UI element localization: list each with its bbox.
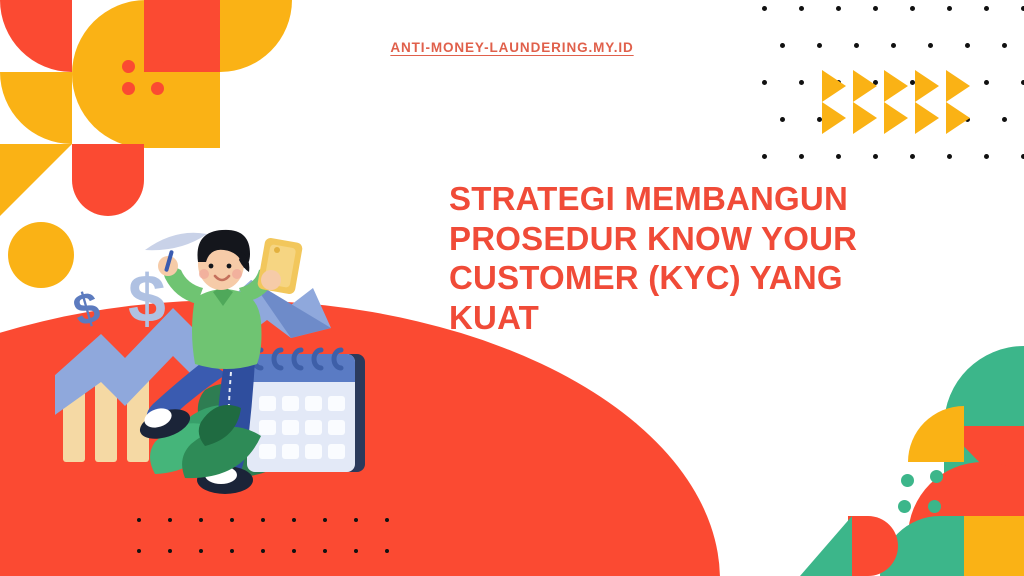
cover-canvas: ANTI-MONEY-LAUNDERING.MY.ID STRATEGI MEM…: [0, 0, 1024, 576]
grid-dot-icon: [199, 549, 203, 553]
yellow-square-icon: [964, 516, 1024, 576]
grid-dot-icon: [799, 154, 804, 159]
grid-dot-icon: [762, 80, 767, 85]
grid-dot-icon: [873, 6, 878, 11]
grid-dot-icon: [1002, 43, 1007, 48]
red-dot-icon: [122, 82, 135, 95]
grid-dot-icon: [762, 6, 767, 11]
swoosh-graphic: [145, 233, 207, 250]
grid-dot-icon: [836, 6, 841, 11]
green-dot-icon: [930, 470, 943, 483]
grid-dot-icon: [799, 80, 804, 85]
grid-dot-icon: [137, 549, 141, 553]
yellow-quarter-circle-icon: [908, 406, 964, 462]
red-quarter-circle-icon: [0, 0, 72, 72]
grid-dot-icon: [947, 6, 952, 11]
grid-dot-icon: [385, 549, 389, 553]
grid-dot-icon: [780, 43, 785, 48]
triangle-arrow-icon: [884, 102, 908, 134]
grid-dot-icon: [984, 6, 989, 11]
grid-dot-icon: [323, 549, 327, 553]
green-dot-icon: [901, 474, 914, 487]
grid-dot-icon: [261, 549, 265, 553]
triangle-arrow-icon: [915, 70, 939, 102]
green-triangle-icon: [800, 516, 852, 576]
red-dot-icon: [151, 82, 164, 95]
red-half-circle-icon: [72, 144, 144, 216]
site-url-link[interactable]: ANTI-MONEY-LAUNDERING.MY.ID: [0, 40, 1024, 55]
triangle-arrow-icon: [946, 102, 970, 134]
calendar-graphic: [247, 350, 365, 472]
grid-dot-icon: [910, 154, 915, 159]
grid-dot-icon: [947, 154, 952, 159]
grid-dot-icon: [261, 518, 265, 522]
grid-dot-icon: [292, 549, 296, 553]
green-dot-icon: [928, 500, 941, 513]
grid-dot-icon: [984, 154, 989, 159]
triangle-arrow-icon: [946, 70, 970, 102]
triangle-arrow-icon: [822, 70, 846, 102]
triangle-arrow-icon: [853, 70, 877, 102]
grid-dot-icon: [385, 518, 389, 522]
grid-dot-icon: [323, 518, 327, 522]
grid-dot-icon: [168, 518, 172, 522]
grid-dot-icon: [168, 549, 172, 553]
grid-dot-icon: [891, 43, 896, 48]
triangle-arrow-icon: [884, 70, 908, 102]
yellow-corner-quarter-icon: [220, 0, 292, 72]
grid-dot-icon: [230, 518, 234, 522]
illustration-businessman-growth: $ $: [55, 222, 385, 500]
triangle-arrow-icon: [915, 102, 939, 134]
dollar-sign-small-icon: $: [68, 282, 105, 336]
grid-dot-icon: [799, 6, 804, 11]
grid-dot-icon: [836, 154, 841, 159]
grid-dot-icon: [910, 6, 915, 11]
red-dot-icon: [151, 59, 164, 72]
grid-dot-icon: [199, 518, 203, 522]
grid-dot-icon: [928, 43, 933, 48]
grid-dot-icon: [762, 154, 767, 159]
grid-dot-icon: [137, 518, 141, 522]
grid-dot-icon: [780, 117, 785, 122]
page-title: STRATEGI MEMBANGUN PROSEDUR KNOW YOUR CU…: [449, 179, 919, 337]
grid-dot-icon: [354, 518, 358, 522]
yellow-quarter-circle-icon: [0, 72, 72, 144]
grid-dot-icon: [854, 43, 859, 48]
svg-text:$: $: [68, 282, 105, 336]
grid-dot-icon: [965, 43, 970, 48]
grid-dot-icon: [354, 549, 358, 553]
grid-dot-icon: [1002, 117, 1007, 122]
green-dot-icon: [898, 500, 911, 513]
triangle-arrow-icon: [853, 102, 877, 134]
triangle-arrow-icon: [822, 102, 846, 134]
red-dot-icon: [122, 60, 135, 73]
grid-dot-icon: [292, 518, 296, 522]
grid-dot-icon: [230, 549, 234, 553]
grid-dot-icon: [817, 43, 822, 48]
yellow-triangle-icon: [0, 144, 72, 216]
grid-dot-icon: [873, 154, 878, 159]
grid-dot-icon: [984, 80, 989, 85]
